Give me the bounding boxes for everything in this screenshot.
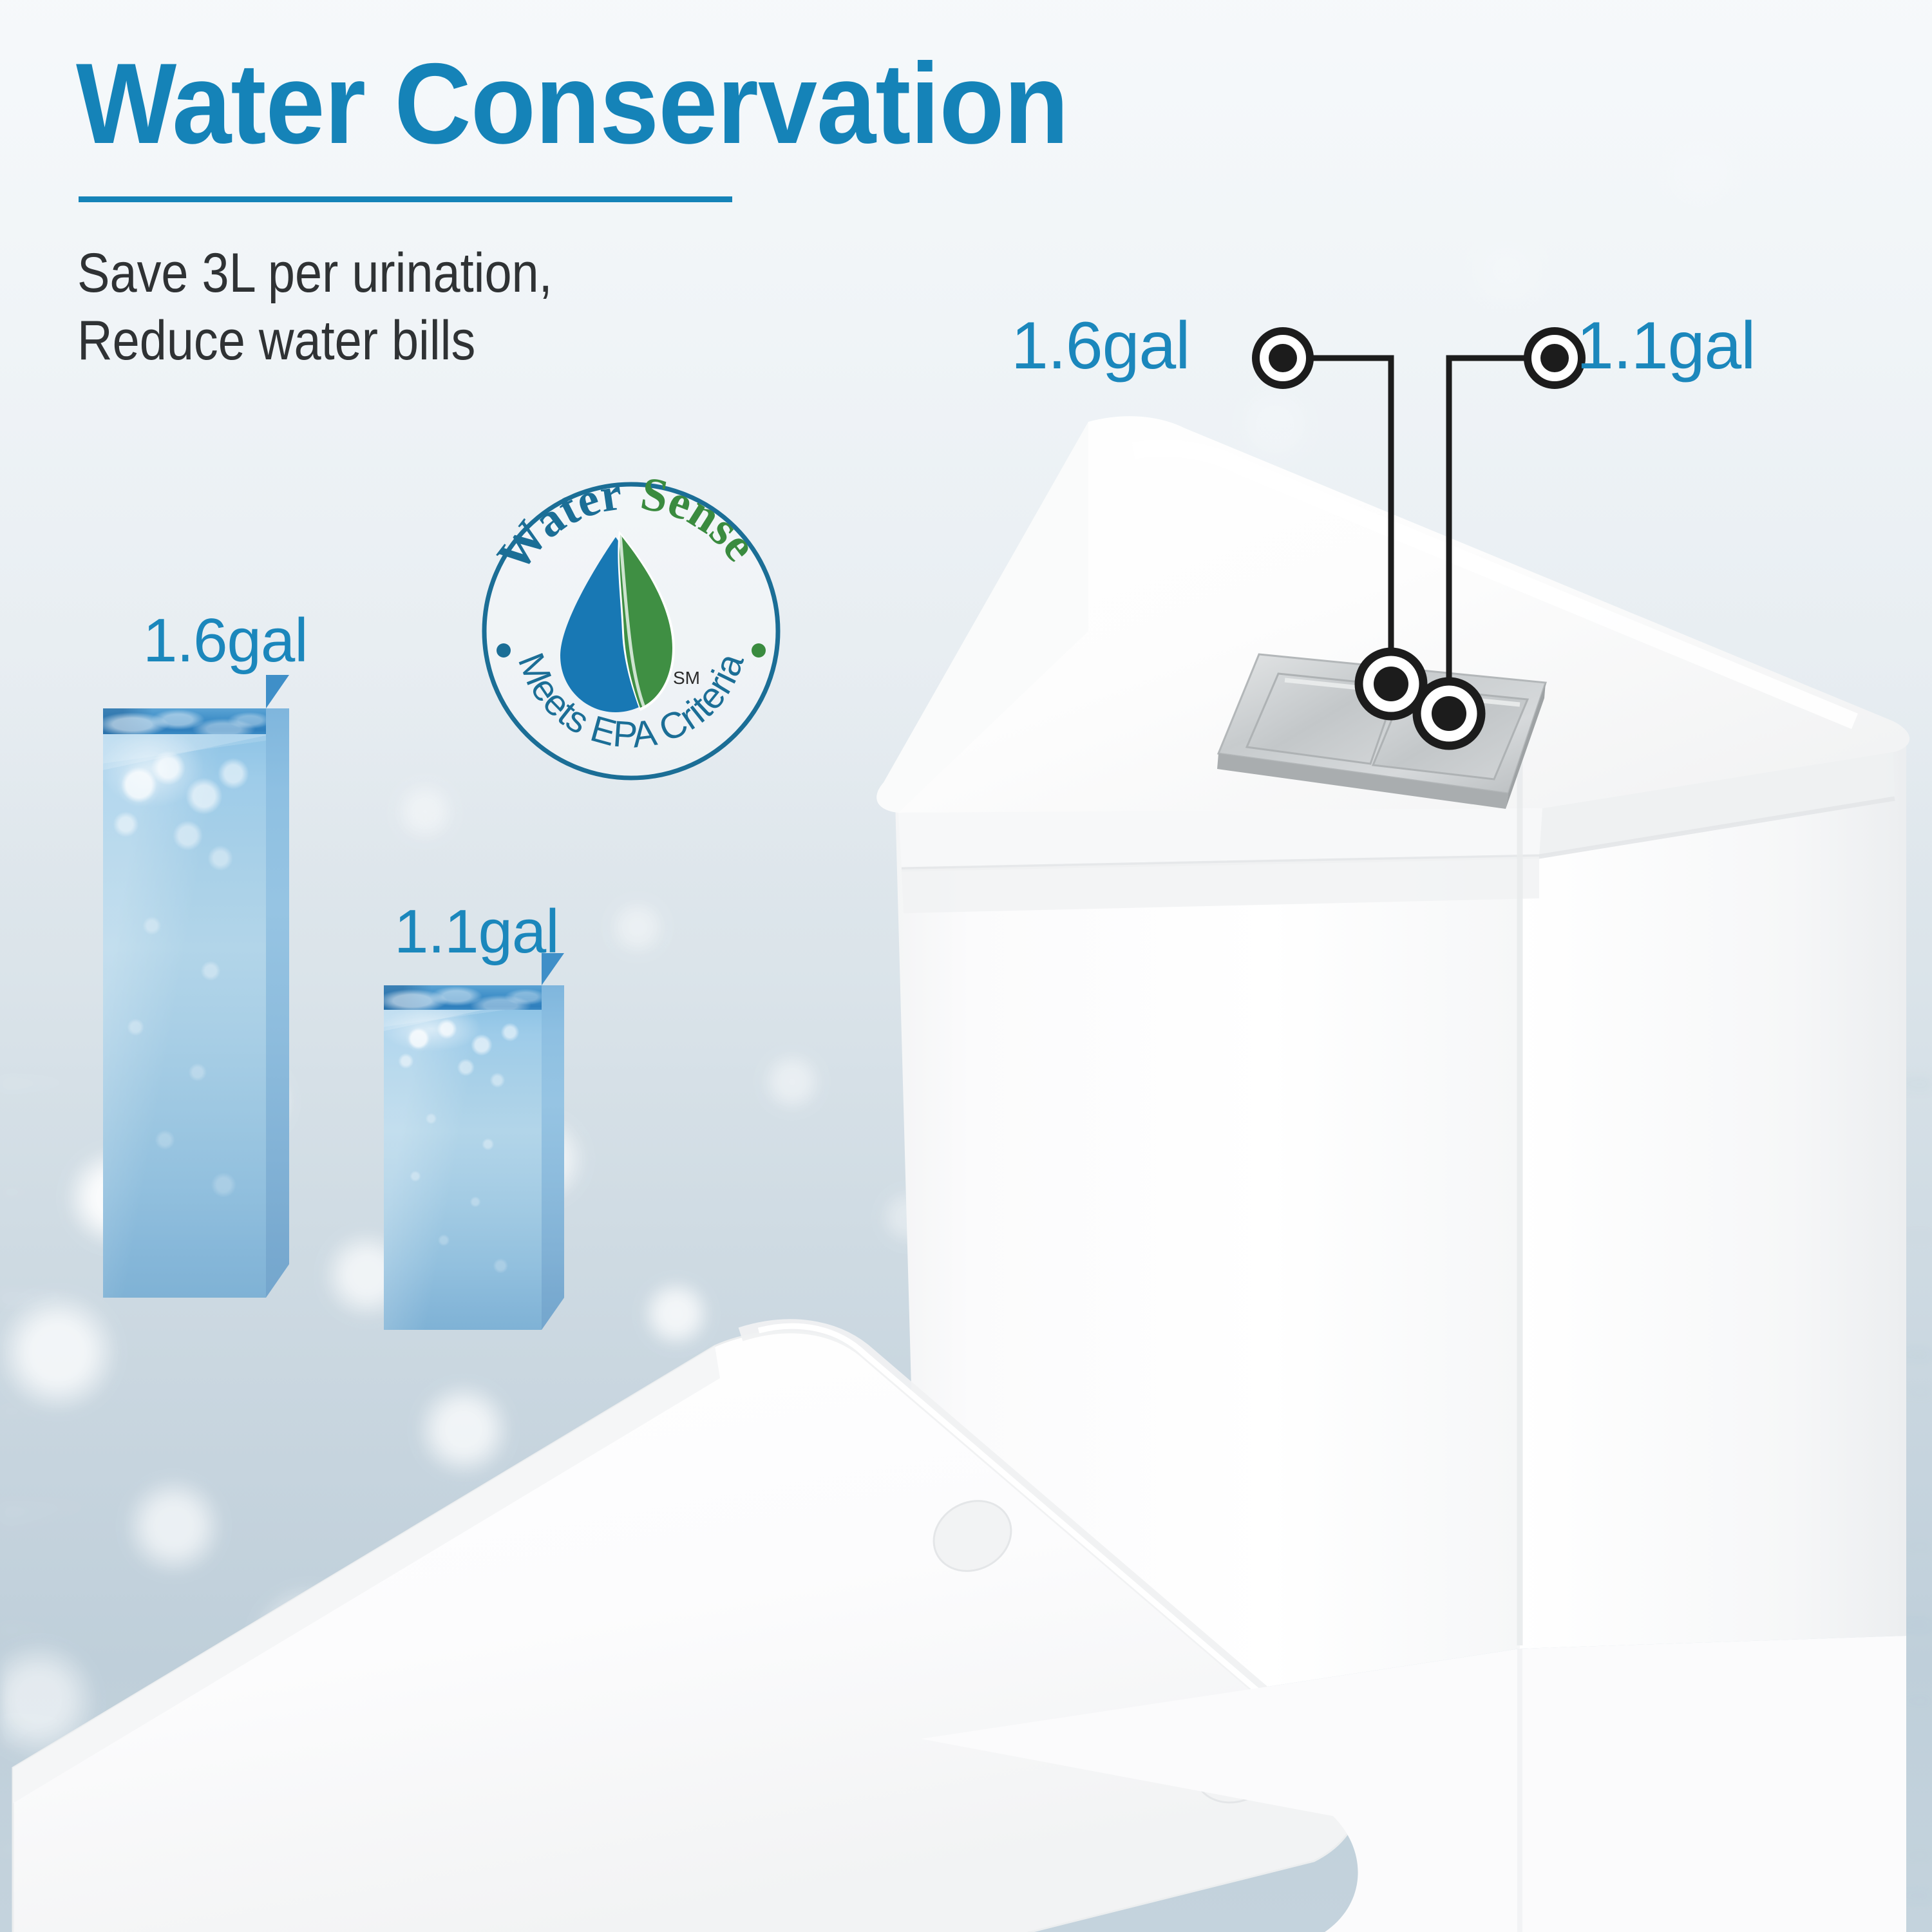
background-wave-bands <box>0 1082 1932 1932</box>
bar-front-face <box>103 734 266 1298</box>
bar-top-cap-side <box>266 675 289 708</box>
bar-side-face <box>542 985 564 1330</box>
infographic-canvas: Water Conservation Save 3L per urination… <box>0 0 1932 1932</box>
bar-column-full-flush <box>103 708 266 1298</box>
bar-top-cap-side <box>542 953 564 985</box>
page-title: Water Conservation <box>76 46 1068 161</box>
bar-column-half-flush <box>384 985 542 1330</box>
badge-dot-left <box>497 643 511 658</box>
page-subtitle: Save 3L per urination, Reduce water bill… <box>77 240 553 375</box>
bar-label-half-flush: 1.1gal <box>394 896 559 967</box>
callout-label-full-flush: 1.6gal <box>1011 308 1189 384</box>
callout-label-half-flush: 1.1gal <box>1577 308 1755 384</box>
watersense-badge: Water Sense SM Meets EPA Criteria <box>478 478 784 784</box>
badge-dot-right <box>752 643 766 658</box>
title-underline-rule <box>79 196 732 202</box>
bar-label-full-flush: 1.6gal <box>143 605 308 676</box>
bar-side-face <box>266 708 289 1298</box>
bar-front-face <box>384 1010 542 1330</box>
